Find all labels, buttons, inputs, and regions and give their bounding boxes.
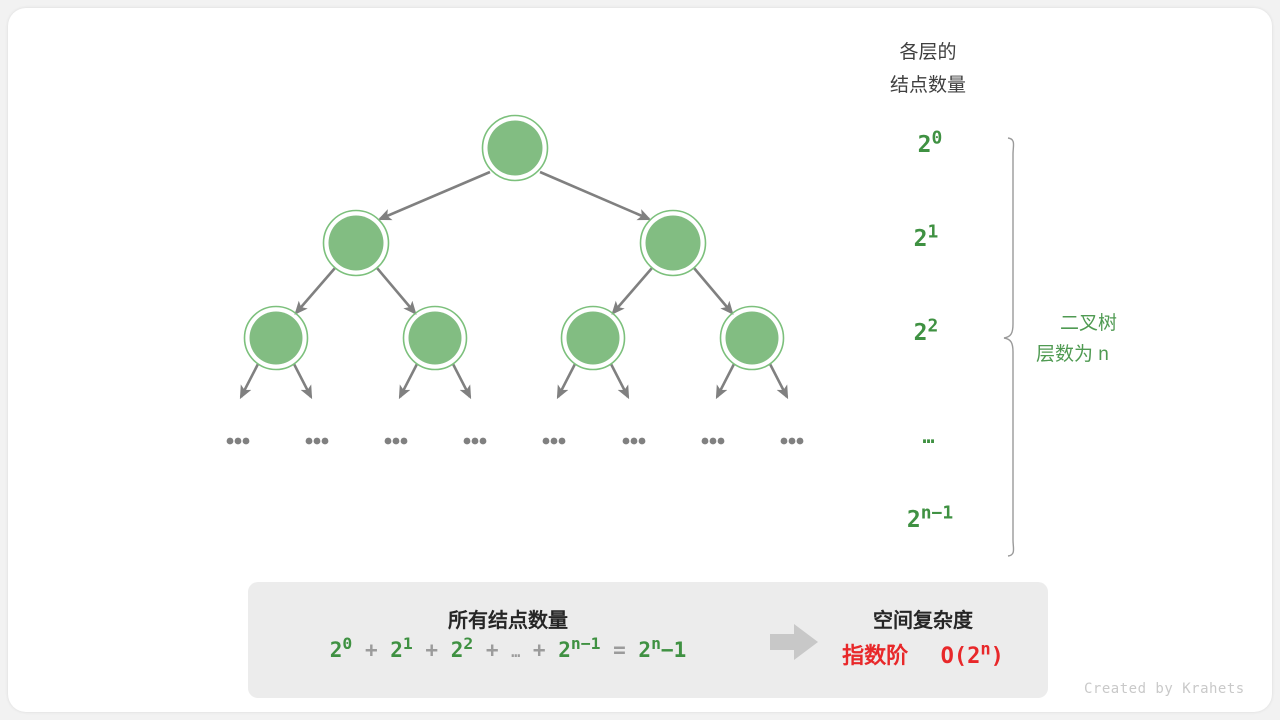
formula-plus-1: + bbox=[425, 638, 438, 662]
level-count-label-1: 21 bbox=[856, 226, 996, 252]
summary-left-title: 所有结点数量 bbox=[378, 604, 638, 633]
level-count-exponent-n-1: n−1 bbox=[921, 502, 953, 523]
credit-footer: Created by Krahets bbox=[1084, 681, 1245, 697]
complexity-big-o: O(2n) bbox=[941, 644, 1004, 669]
formula-plus-3: + bbox=[533, 638, 546, 662]
level-count-label-0: 20 bbox=[860, 132, 1000, 158]
summary-right-result: 指数阶 O(2n) bbox=[818, 638, 1028, 670]
level-count-base-ellipsis: … bbox=[922, 424, 935, 448]
summary-right-title: 空间复杂度 bbox=[818, 604, 1028, 633]
summary-formula: 20 + 21 + 22 + … + 2n−1 = 2n−1 bbox=[268, 638, 748, 662]
formula-ellipsis: … bbox=[511, 643, 520, 661]
level-count-exponent-0: 0 bbox=[932, 127, 943, 148]
formula-term-1: 21 bbox=[390, 638, 413, 662]
tree-edges bbox=[241, 172, 787, 397]
diagram-card: 各层的 结点数量 20 21 22 … 2n−1 二叉树 层数为 n 所有结点数… bbox=[8, 8, 1272, 712]
level-count-base-2: 2 bbox=[914, 320, 928, 346]
level-count-base-1: 2 bbox=[914, 226, 928, 252]
formula-term-0: 20 bbox=[330, 638, 353, 662]
formula-term-2: 22 bbox=[451, 638, 474, 662]
brace-label-line1: 二叉树 bbox=[1036, 308, 1226, 339]
tree-nodes bbox=[245, 116, 784, 370]
level-count-label-ellipsis: … bbox=[859, 424, 999, 448]
level-count-base-n-1: 2 bbox=[907, 507, 921, 533]
formula-result: 2n−1 bbox=[638, 638, 686, 662]
screenshot-stage: 各层的 结点数量 20 21 22 … 2n−1 二叉树 层数为 n 所有结点数… bbox=[0, 0, 1280, 720]
complexity-order-label: 指数阶 bbox=[842, 644, 908, 669]
summary-box: 所有结点数量 20 + 21 + 22 + … + 2n−1 = 2n−1 空间… bbox=[248, 582, 1048, 698]
level-count-label-n-1: 2n−1 bbox=[860, 507, 1000, 533]
level-count-exponent-2: 2 bbox=[928, 315, 939, 336]
column-header-line1: 各层的 bbox=[828, 36, 1028, 69]
formula-plus-0: + bbox=[365, 638, 378, 662]
brace-label-line2: 层数为 n bbox=[1036, 339, 1226, 370]
formula-plus-2: + bbox=[486, 638, 499, 662]
level-span-brace bbox=[1004, 138, 1014, 556]
column-header: 各层的 结点数量 bbox=[828, 36, 1028, 102]
brace-label: 二叉树 层数为 n bbox=[1036, 308, 1226, 370]
formula-equals: = bbox=[613, 638, 626, 662]
column-header-line2: 结点数量 bbox=[828, 69, 1028, 102]
formula-term-n-1: 2n−1 bbox=[558, 638, 600, 662]
tree-ellipsis-row bbox=[227, 438, 804, 445]
level-count-label-2: 22 bbox=[856, 320, 996, 346]
level-count-exponent-1: 1 bbox=[928, 221, 939, 242]
level-count-base-0: 2 bbox=[918, 132, 932, 158]
